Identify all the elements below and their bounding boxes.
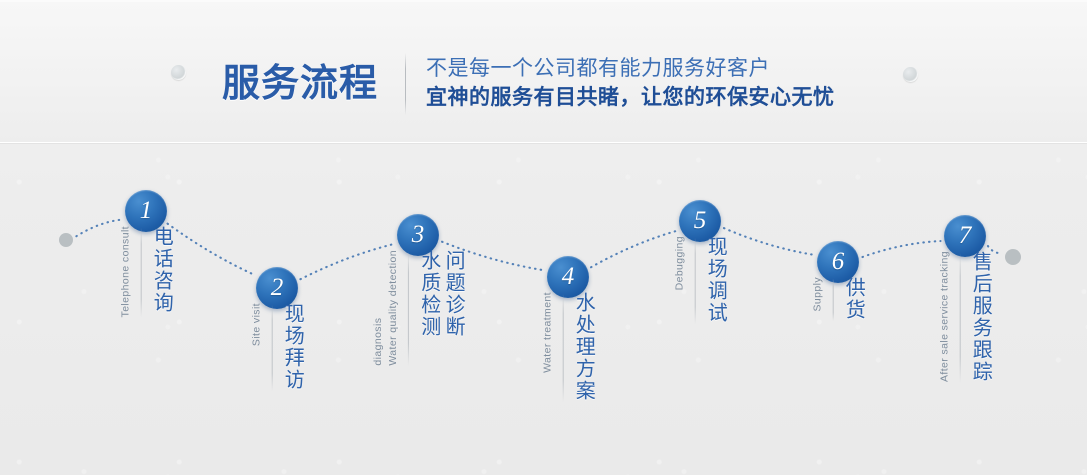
step-label-en: Water treatment — [541, 292, 556, 373]
step-label-group: 供货Supply — [811, 277, 866, 321]
step-label-en: Supply — [811, 277, 826, 312]
step-label-divider — [960, 253, 961, 383]
step-label-en-column: diagnosis — [371, 250, 386, 366]
step-label-group: 现场拜访Site visit — [250, 303, 305, 391]
step-label-divider — [563, 294, 564, 402]
step-label-group: 电话咨询Telephone consult — [119, 226, 174, 317]
step-number-text: 1 — [140, 198, 153, 225]
connector-dotted-path — [76, 220, 1002, 280]
step-label-en: After sale service tracking — [938, 251, 953, 382]
step-label-group: 售后服务跟踪After sale service tracking — [938, 251, 993, 383]
step-number-text: 5 — [694, 208, 707, 235]
step-label-cn-column: 现场拜访 — [280, 303, 304, 391]
step-label-en: Telephone consult — [119, 226, 134, 317]
step-number-text: 6 — [832, 249, 845, 276]
step-label-cn-column: 电话咨询 — [149, 226, 173, 314]
header-content: 服务流程 不是每一个公司都有能力服务好客户 宜神的服务有目共睹，让您的环保安心无… — [0, 0, 1087, 141]
subtitle-line-1: 不是每一个公司都有能力服务好客户 — [426, 55, 835, 83]
connector-segment — [168, 224, 256, 276]
step-label-en: Debugging — [673, 236, 688, 290]
title-divider — [405, 53, 406, 115]
step-label-cn-column: 售后服务跟踪 — [968, 251, 992, 383]
step-number-text: 4 — [562, 264, 575, 291]
step-number-text: 2 — [271, 275, 284, 302]
step-label-divider — [833, 279, 834, 321]
page-title: 服务流程 — [222, 52, 378, 107]
step-label-cn: 现场拜访 — [280, 303, 304, 391]
step-label-divider — [272, 305, 273, 391]
step-label-en: Site visit — [250, 303, 265, 346]
step-label-divider — [408, 252, 409, 366]
step-label-group: 现场调试Debugging — [673, 236, 728, 324]
step-label-group: 水处理方案Water treatment — [541, 292, 596, 402]
subtitle-block: 不是每一个公司都有能力服务好客户 宜神的服务有目共睹，让您的环保安心无忧 — [426, 55, 835, 113]
step-label-en-column: Telephone consult — [119, 226, 134, 317]
step-label-en: Water quality detectiondiagnosis — [371, 250, 401, 366]
step-label-en-column: Supply — [811, 277, 826, 312]
service-process-banner: 服务流程 不是每一个公司都有能力服务好客户 宜神的服务有目共睹，让您的环保安心无… — [0, 0, 1087, 475]
step-label-cn: 售后服务跟踪 — [968, 251, 992, 383]
connector-segment — [862, 241, 940, 257]
connector-segment — [724, 228, 814, 255]
step-label-divider — [141, 228, 142, 317]
step-label-cn-column: 现场调试 — [703, 236, 727, 324]
connector-segment — [591, 231, 677, 267]
step-label-en-column: Site visit — [250, 303, 265, 346]
step-label-en-column: Water treatment — [541, 292, 556, 373]
flow-end-dot-icon — [1005, 249, 1021, 265]
step-label-cn: 现场调试 — [703, 236, 727, 324]
step-label-cn-column: 水处理方案 — [571, 292, 595, 402]
step-label-en-column: Debugging — [673, 236, 688, 290]
connector-segment — [76, 220, 122, 237]
step-label-cn: 电话咨询 — [149, 226, 173, 314]
subtitle-line-2: 宜神的服务有目共睹，让您的环保安心无忧 — [426, 83, 835, 113]
step-label-cn-column: 问题诊断 — [441, 250, 465, 338]
step-label-cn-column: 水质检测 — [416, 250, 440, 338]
step-label-group: 问题诊断水质检测Water quality detectiondiagnosis — [371, 250, 465, 366]
step-number-text: 3 — [412, 222, 425, 249]
step-label-cn-column: 供货 — [841, 277, 865, 321]
step-label-cn: 水处理方案 — [571, 292, 595, 402]
step-label-cn: 供货 — [841, 277, 865, 321]
step-number-text: 7 — [959, 223, 972, 250]
flow-start-dot-icon — [59, 233, 73, 247]
step-label-en-column: Water quality detection — [386, 250, 401, 366]
step-label-divider — [695, 238, 696, 324]
step-label-cn: 问题诊断水质检测 — [416, 250, 465, 338]
step-label-en-column: After sale service tracking — [938, 251, 953, 382]
